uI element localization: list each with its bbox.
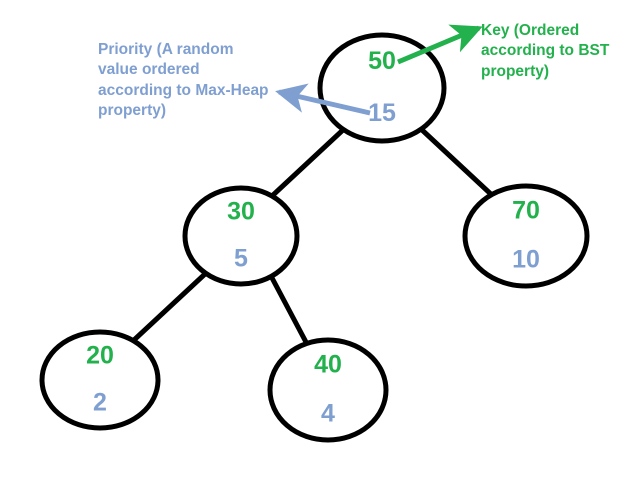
tree-edge-root-to-right-child	[421, 129, 494, 197]
node-key-leaf-left: 20	[86, 342, 114, 370]
tree-node-leaf-left[interactable]: 202	[42, 332, 158, 428]
tree-edge-root-to-left-child	[272, 129, 344, 196]
node-key-left-child: 30	[227, 198, 255, 226]
node-priority-right-child: 10	[512, 246, 540, 274]
tree-edge-left-child-to-leaf-left	[134, 274, 205, 340]
key-annotation-label: Key (Ordered according to BST property)	[481, 21, 623, 82]
node-priority-root: 15	[368, 99, 396, 127]
node-priority-left-child: 5	[234, 245, 248, 273]
node-priority-leaf-right: 4	[321, 400, 335, 428]
priority-annotation-label: Priority (A random value ordered accordi…	[98, 40, 274, 122]
node-priority-leaf-left: 2	[93, 389, 107, 417]
tree-node-right-child[interactable]: 7010	[465, 186, 587, 286]
node-key-right-child: 70	[512, 197, 540, 225]
tree-node-leaf-right[interactable]: 404	[270, 340, 386, 440]
tree-edge-left-child-to-leaf-right	[271, 276, 307, 344]
tree-node-left-child[interactable]: 305	[185, 188, 297, 284]
treap-diagram-canvas: 50153057010202404 Priority (A random val…	[0, 0, 631, 485]
node-key-root: 50	[368, 47, 396, 75]
node-key-leaf-right: 40	[314, 351, 342, 379]
